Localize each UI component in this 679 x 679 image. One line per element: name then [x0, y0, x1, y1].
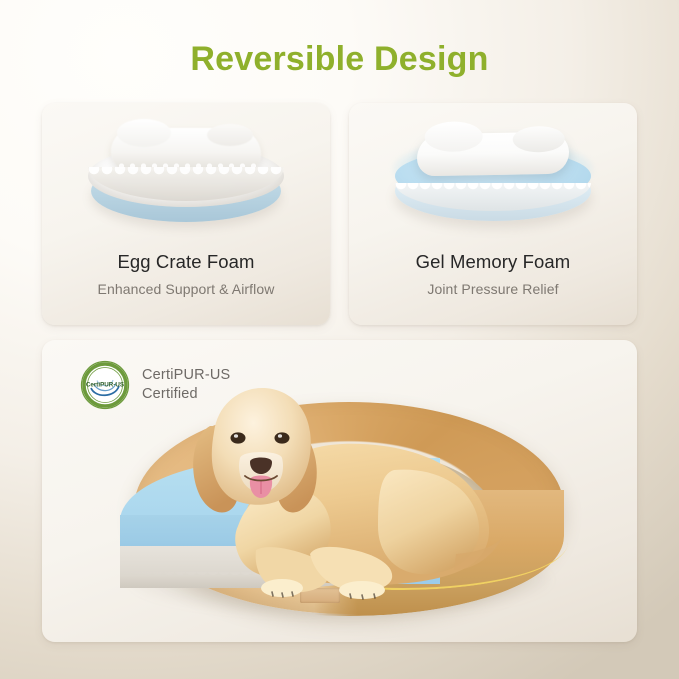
feature-card-egg-crate-foam: Egg Crate Foam Enhanced Support & Airflo…	[42, 103, 330, 325]
card-subtitle-gel-memory-foam: Joint Pressure Relief	[349, 281, 637, 297]
seal-label: CertiPUR-US	[86, 382, 124, 389]
card-title-egg-crate-foam: Egg Crate Foam	[42, 251, 330, 273]
dog-silhouette-shape	[417, 132, 570, 177]
feature-card-gel-memory-foam: Gel Memory Foam Joint Pressure Relief	[349, 103, 637, 325]
dog-eye-highlight-left	[234, 434, 238, 438]
certipur-us-seal-icon: CertiPUR-US	[80, 360, 130, 410]
dog-eye-highlight-right	[278, 434, 282, 438]
gel-memory-foam-illustration	[349, 103, 637, 251]
certipur-badge-text: CertiPUR-US Certified	[142, 366, 230, 404]
egg-crate-foam-illustration	[42, 103, 330, 251]
card-subtitle-egg-crate-foam: Enhanced Support & Airflow	[42, 281, 330, 297]
product-infographic-poster: Reversible Design Egg Crate Foam Enhance…	[0, 0, 679, 679]
dog-eye-left	[231, 432, 246, 443]
card-title-gel-memory-foam: Gel Memory Foam	[349, 251, 637, 273]
page-title: Reversible Design	[0, 40, 679, 79]
dog-eye-right	[275, 432, 290, 443]
hero-product-card: CertiPUR-US CertiPUR-US Certified	[42, 340, 637, 642]
certipur-line-1: CertiPUR-US	[142, 366, 230, 385]
certipur-line-2: Certified	[142, 385, 230, 404]
certipur-badge: CertiPUR-US CertiPUR-US Certified	[80, 360, 230, 410]
